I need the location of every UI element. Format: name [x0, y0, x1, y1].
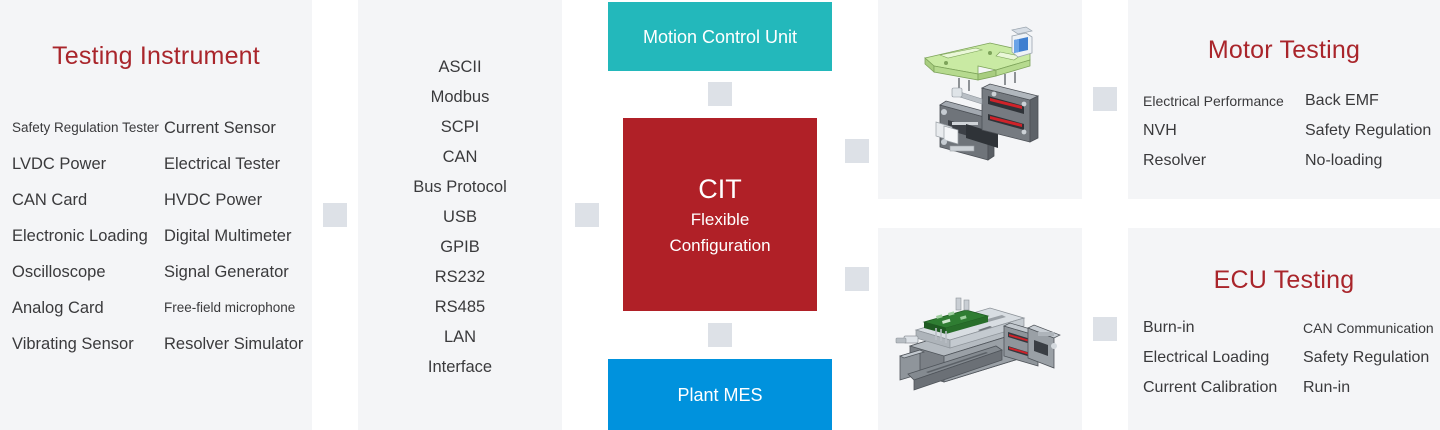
testing-instrument-title: Testing Instrument	[0, 42, 312, 71]
list-item: Oscilloscope	[12, 254, 164, 290]
list-item: RS232	[358, 262, 562, 292]
motor-illustration-panel	[878, 0, 1082, 199]
list-item: Electrical Loading	[1143, 343, 1303, 373]
connector-cit-to-ecu-illustration	[845, 267, 869, 291]
list-item: Electrical Performance	[1143, 86, 1305, 116]
list-item: Current Sensor	[164, 110, 312, 146]
list-item: CAN	[358, 142, 562, 172]
list-item: ASCII	[358, 52, 562, 82]
list-item: Bus Protocol	[358, 172, 562, 202]
motor-right-column: Back EMF Safety Regulation No-loading	[1305, 86, 1440, 176]
connector-cit-to-mes	[708, 323, 732, 347]
connector-ecu-illustration-to-panel	[1093, 317, 1117, 341]
list-item: Run-in	[1303, 373, 1440, 403]
ecu-testing-title: ECU Testing	[1128, 266, 1440, 295]
ecu-left-column: Burn-in Electrical Loading Current Calib…	[1143, 313, 1303, 403]
ecu-illustration-panel	[878, 228, 1082, 430]
cit-subtitle-line-2: Configuration	[669, 233, 770, 259]
connector-motor-illustration-to-panel	[1093, 87, 1117, 111]
motor-left-column: Electrical Performance NVH Resolver	[1143, 86, 1305, 176]
list-item: Safety Regulation	[1305, 116, 1440, 146]
instrument-left-column: Safety Regulation Tester LVDC Power CAN …	[12, 110, 164, 362]
list-item: Safety Regulation	[1303, 343, 1440, 373]
protocol-list: ASCII Modbus SCPI CAN Bus Protocol USB G…	[358, 52, 562, 382]
list-item: USB	[358, 202, 562, 232]
list-item: Resolver	[1143, 146, 1305, 176]
instrument-right-column: Current Sensor Electrical Tester HVDC Po…	[164, 110, 312, 362]
list-item: Digital Multimeter	[164, 218, 312, 254]
list-item: Back EMF	[1305, 86, 1440, 116]
list-item: Safety Regulation Tester	[12, 110, 164, 146]
connector-instrument-to-protocol	[323, 203, 347, 227]
list-item: CAN Card	[12, 182, 164, 218]
list-item: GPIB	[358, 232, 562, 262]
list-item: Free-field microphone	[164, 290, 312, 326]
list-item: LAN	[358, 322, 562, 352]
motor-test-fixture-illustration	[878, 0, 1082, 199]
ecu-test-fixture-illustration	[878, 228, 1082, 430]
list-item: Electronic Loading	[12, 218, 164, 254]
list-item: Interface	[358, 352, 562, 382]
cit-subtitle-line-1: Flexible	[691, 207, 750, 233]
list-item: HVDC Power	[164, 182, 312, 218]
list-item: LVDC Power	[12, 146, 164, 182]
connector-protocol-to-cit	[575, 203, 599, 227]
list-item: No-loading	[1305, 146, 1440, 176]
ecu-right-column: CAN Communication Safety Regulation Run-…	[1303, 313, 1440, 403]
list-item: SCPI	[358, 112, 562, 142]
connector-cit-to-motor-illustration	[845, 139, 869, 163]
list-item: CAN Communication	[1303, 313, 1440, 343]
motor-testing-list: Electrical Performance NVH Resolver Back…	[1143, 86, 1440, 176]
plant-mes-label: Plant MES	[677, 382, 762, 408]
list-item: Signal Generator	[164, 254, 312, 290]
list-item: NVH	[1143, 116, 1305, 146]
testing-instrument-list: Safety Regulation Tester LVDC Power CAN …	[12, 110, 312, 362]
ecu-testing-list: Burn-in Electrical Loading Current Calib…	[1143, 313, 1440, 403]
list-item: Vibrating Sensor	[12, 326, 164, 362]
diagram-canvas: Testing Instrument Safety Regulation Tes…	[0, 0, 1440, 430]
list-item: Analog Card	[12, 290, 164, 326]
cit-block[interactable]: CIT Flexible Configuration	[623, 118, 817, 311]
list-item: RS485	[358, 292, 562, 322]
motion-control-unit-block[interactable]: Motion Control Unit	[608, 2, 832, 71]
connector-mcu-to-cit	[708, 82, 732, 106]
motion-control-unit-label: Motion Control Unit	[643, 24, 797, 50]
list-item: Current Calibration	[1143, 373, 1303, 403]
motor-testing-title: Motor Testing	[1128, 36, 1440, 65]
cit-title: CIT	[698, 171, 742, 207]
plant-mes-block[interactable]: Plant MES	[608, 359, 832, 430]
list-item: Electrical Tester	[164, 146, 312, 182]
list-item: Modbus	[358, 82, 562, 112]
list-item: Burn-in	[1143, 313, 1303, 343]
list-item: Resolver Simulator	[164, 326, 312, 362]
